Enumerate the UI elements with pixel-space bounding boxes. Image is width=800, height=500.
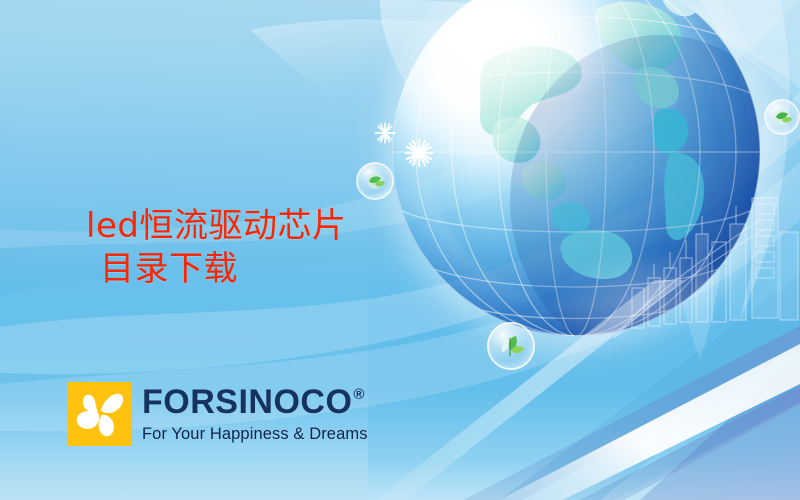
registered-trademark-icon: ® [353, 387, 365, 402]
corner-diagonal-stripes [380, 280, 800, 500]
logo-wordmark: FORSINOCO ® [142, 385, 368, 419]
headline-line-1: led恒流驱动芯片 [86, 206, 346, 246]
snowflake-icon [404, 138, 434, 168]
slide-headline: led恒流驱动芯片 目录下载 [86, 162, 346, 333]
company-logo[interactable]: FORSINOCO ® For Your Happiness & Dreams [68, 382, 368, 446]
logo-wordmark-text: FORSINOCO [142, 385, 352, 419]
logo-tagline: For Your Happiness & Dreams [142, 426, 368, 443]
four-petal-pinwheel-icon [68, 382, 132, 446]
slide-canvas: led恒流驱动芯片 目录下载 FORSINOCO ® For Your Happ… [0, 0, 800, 500]
headline-line-2: 目录下载 [86, 248, 346, 291]
bubble-globe-icon [764, 99, 800, 135]
bubble-globe-icon [356, 162, 394, 200]
logo-text-block: FORSINOCO ® For Your Happiness & Dreams [142, 382, 368, 443]
snowflake-icon [374, 122, 396, 144]
